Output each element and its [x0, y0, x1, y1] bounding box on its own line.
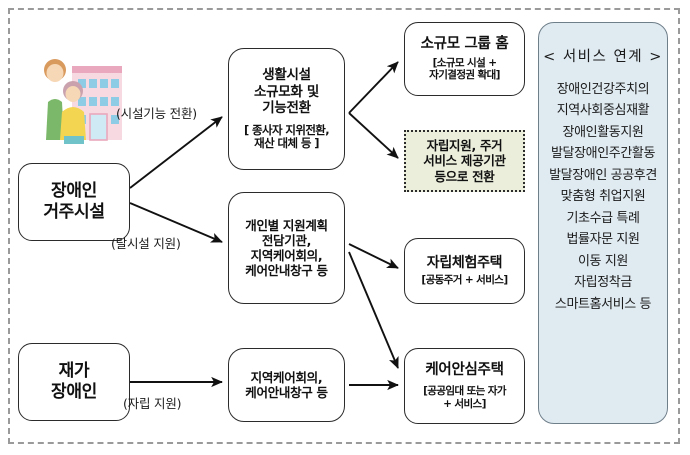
node-residential-facility[interactable]: 장애인거주시설 — [18, 163, 130, 241]
node-home-disabled[interactable]: 재가장애인 — [18, 343, 130, 421]
service-linkage-title: < 서비스 연계 > — [543, 45, 663, 66]
service-linkage-item: 이동 지원 — [578, 253, 628, 271]
edge-label-independence-support: (자립 지원) — [123, 393, 181, 412]
node-title: 생활시설소규모화 및기능전환 — [254, 67, 319, 116]
service-linkage-item: 장애인활동지원 — [563, 124, 644, 142]
node-title: 자립체험주택 — [427, 255, 502, 272]
caregiver-and-resident-illustration — [28, 50, 126, 150]
service-linkage-item: 발달장애인 공공후견 — [549, 167, 657, 185]
node-title: 개인별 지원계획전담기관,지역케어회의,케어안내창구 등 — [245, 218, 327, 279]
service-linkage-item: 발달장애인주간활동 — [551, 145, 655, 163]
node-facility-conversion[interactable]: 생활시설소규모화 및기능전환 [ 종사자 지위전환,재산 대체 등 ] — [228, 48, 345, 170]
service-linkage-list: 장애인건강주치의지역사회중심재활장애인활동지원발달장애인주간활동발달장애인 공공… — [539, 81, 667, 314]
edge-label-deinstitutionalization-support: (탈시설 지원) — [111, 233, 181, 252]
diagram-canvas: 장애인거주시설 재가장애인 생활시설소규모화 및기능전환 [ 종사자 지위전환,… — [0, 0, 690, 455]
node-subtitle: [소규모 시설 +자기결정권 확대] — [429, 57, 500, 82]
service-linkage-item: 기초수급 특례 — [566, 210, 639, 228]
service-linkage-item: 법률자문 지원 — [566, 231, 639, 249]
service-linkage-item: 스마트홈서비스 등 — [555, 296, 651, 314]
node-small-group-home[interactable]: 소규모 그룹 홈 [소규모 시설 +자기결정권 확대] — [404, 22, 525, 96]
node-title: 장애인거주시설 — [43, 181, 104, 222]
node-title: 케어안심주택 — [425, 362, 503, 380]
node-care-safe-house[interactable]: 케어안심주택 [공공임대 또는 자가+ 서비스] — [404, 348, 525, 424]
node-subtitle: [공동주거 + 서비스] — [421, 274, 507, 286]
node-title: 소규모 그룹 홈 — [421, 36, 509, 54]
node-independence-provider[interactable]: 자립지원, 주거서비스 제공기관등으로 전환 — [404, 130, 525, 192]
node-subtitle: [ 종사자 지위전환,재산 대체 등 ] — [244, 124, 329, 151]
edge-label-facility-function-conversion: (시설기능 전환) — [116, 103, 197, 122]
node-title: 재가장애인 — [51, 361, 97, 402]
service-linkage-panel: < 서비스 연계 > 장애인건강주치의지역사회중심재활장애인활동지원발달장애인주… — [538, 22, 668, 424]
service-linkage-item: 지역사회중심재활 — [557, 102, 649, 120]
node-title: 자립지원, 주거서비스 제공기관등으로 전환 — [423, 138, 505, 184]
node-subtitle: [공공임대 또는 자가+ 서비스] — [423, 385, 506, 410]
service-linkage-item: 맞춤형 취업지원 — [561, 188, 646, 206]
node-local-care-desk[interactable]: 지역케어회의,케어안내창구 등 — [228, 348, 345, 422]
node-title: 지역케어회의,케어안내창구 등 — [245, 370, 327, 401]
node-individual-support-plan[interactable]: 개인별 지원계획전담기관,지역케어회의,케어안내창구 등 — [228, 192, 345, 304]
node-independence-trial-house[interactable]: 자립체험주택 [공동주거 + 서비스] — [404, 238, 525, 304]
service-linkage-item: 자립정착금 — [574, 274, 632, 292]
service-linkage-item: 장애인건강주치의 — [557, 81, 649, 99]
